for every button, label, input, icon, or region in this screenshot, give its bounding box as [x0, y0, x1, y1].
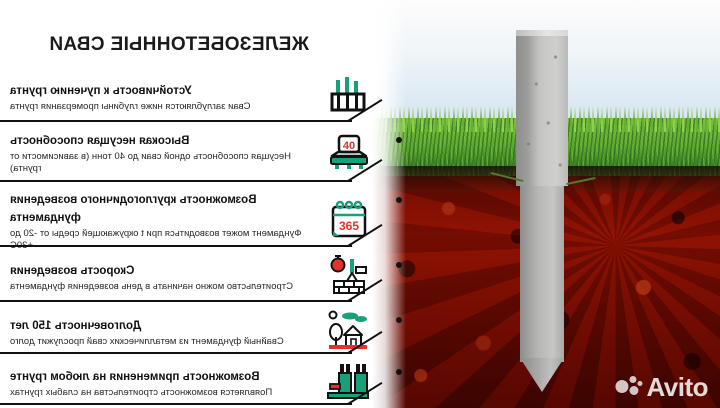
- mirrored-composition: Avito ЖЕЛЕЗОБЕТОННЫЕ СВАИ: [0, 0, 720, 408]
- feature-item: Скорость возведения Строительство можно …: [0, 254, 372, 300]
- photo-edge-fade: [372, 0, 406, 408]
- feature-divider: [0, 120, 352, 122]
- stopwatch-brickwork-icon: [326, 254, 372, 300]
- calendar-365-icon: 365: [326, 198, 372, 244]
- house-trees-icon: [326, 309, 372, 355]
- svg-text:40: 40: [343, 140, 355, 152]
- avito-dots-icon: [615, 376, 641, 398]
- feature-title: Возможность круглогодичного возведения ф…: [10, 194, 256, 224]
- feature-divider: [0, 403, 352, 405]
- feature-desc: Сваи заглубляются ниже глубины промерзан…: [10, 101, 318, 113]
- feature-title: Возможность применения на любом грунте: [10, 371, 260, 383]
- pile-underground-section: [520, 182, 564, 362]
- feature-desc: Свайный фундамент из металлических свай …: [10, 336, 318, 348]
- pile-photo: Avito: [372, 0, 720, 408]
- feature-item: 40 Высокая несущая способность Несущая с…: [0, 130, 372, 176]
- page-title: ЖЕЛЕЗОБЕТОННЫЕ СВАИ: [14, 34, 344, 56]
- avito-watermark-label: Avito: [646, 374, 708, 400]
- feature-item: Долговечность 150 лет Свайный фундамент …: [0, 309, 372, 355]
- feature-divider: [0, 180, 352, 182]
- feature-desc: Строительство можно начинать в день возв…: [10, 281, 318, 293]
- feature-item: 365 Возможность круглогодичного возведен…: [0, 190, 372, 251]
- feature-title: Скорость возведения: [10, 265, 134, 277]
- feature-title: Устойчивость к пучению грунта: [10, 85, 192, 97]
- features-panel: ЖЕЛЕЗОБЕТОННЫЕ СВАИ: [0, 0, 372, 408]
- feature-divider: [0, 245, 352, 247]
- feature-desc: Несущая способность одной сваи до 40 тон…: [10, 151, 318, 174]
- avito-watermark: Avito: [615, 374, 708, 400]
- feature-divider: [0, 352, 352, 354]
- feature-title: Долговечность 150 лет: [10, 320, 141, 332]
- infographic-canvas: Avito ЖЕЛЕЗОБЕТОННЫЕ СВАИ: [0, 0, 720, 408]
- feature-item: Возможность применения на любом грунте П…: [0, 360, 372, 406]
- feature-title: Высокая несущая способность: [10, 135, 189, 147]
- svg-text:365: 365: [339, 219, 359, 233]
- pile-above-ground-section: [516, 36, 568, 186]
- piles-group-icon: [326, 74, 372, 120]
- feature-desc: Фундамент может возводиться при t окружа…: [10, 228, 318, 251]
- feature-item: Устойчивость к пучению грунта Сваи заглу…: [0, 74, 372, 120]
- pile-foundation-icon: [326, 360, 372, 406]
- feature-divider: [0, 300, 352, 302]
- feature-desc: Появляется возможность строительства на …: [10, 387, 318, 399]
